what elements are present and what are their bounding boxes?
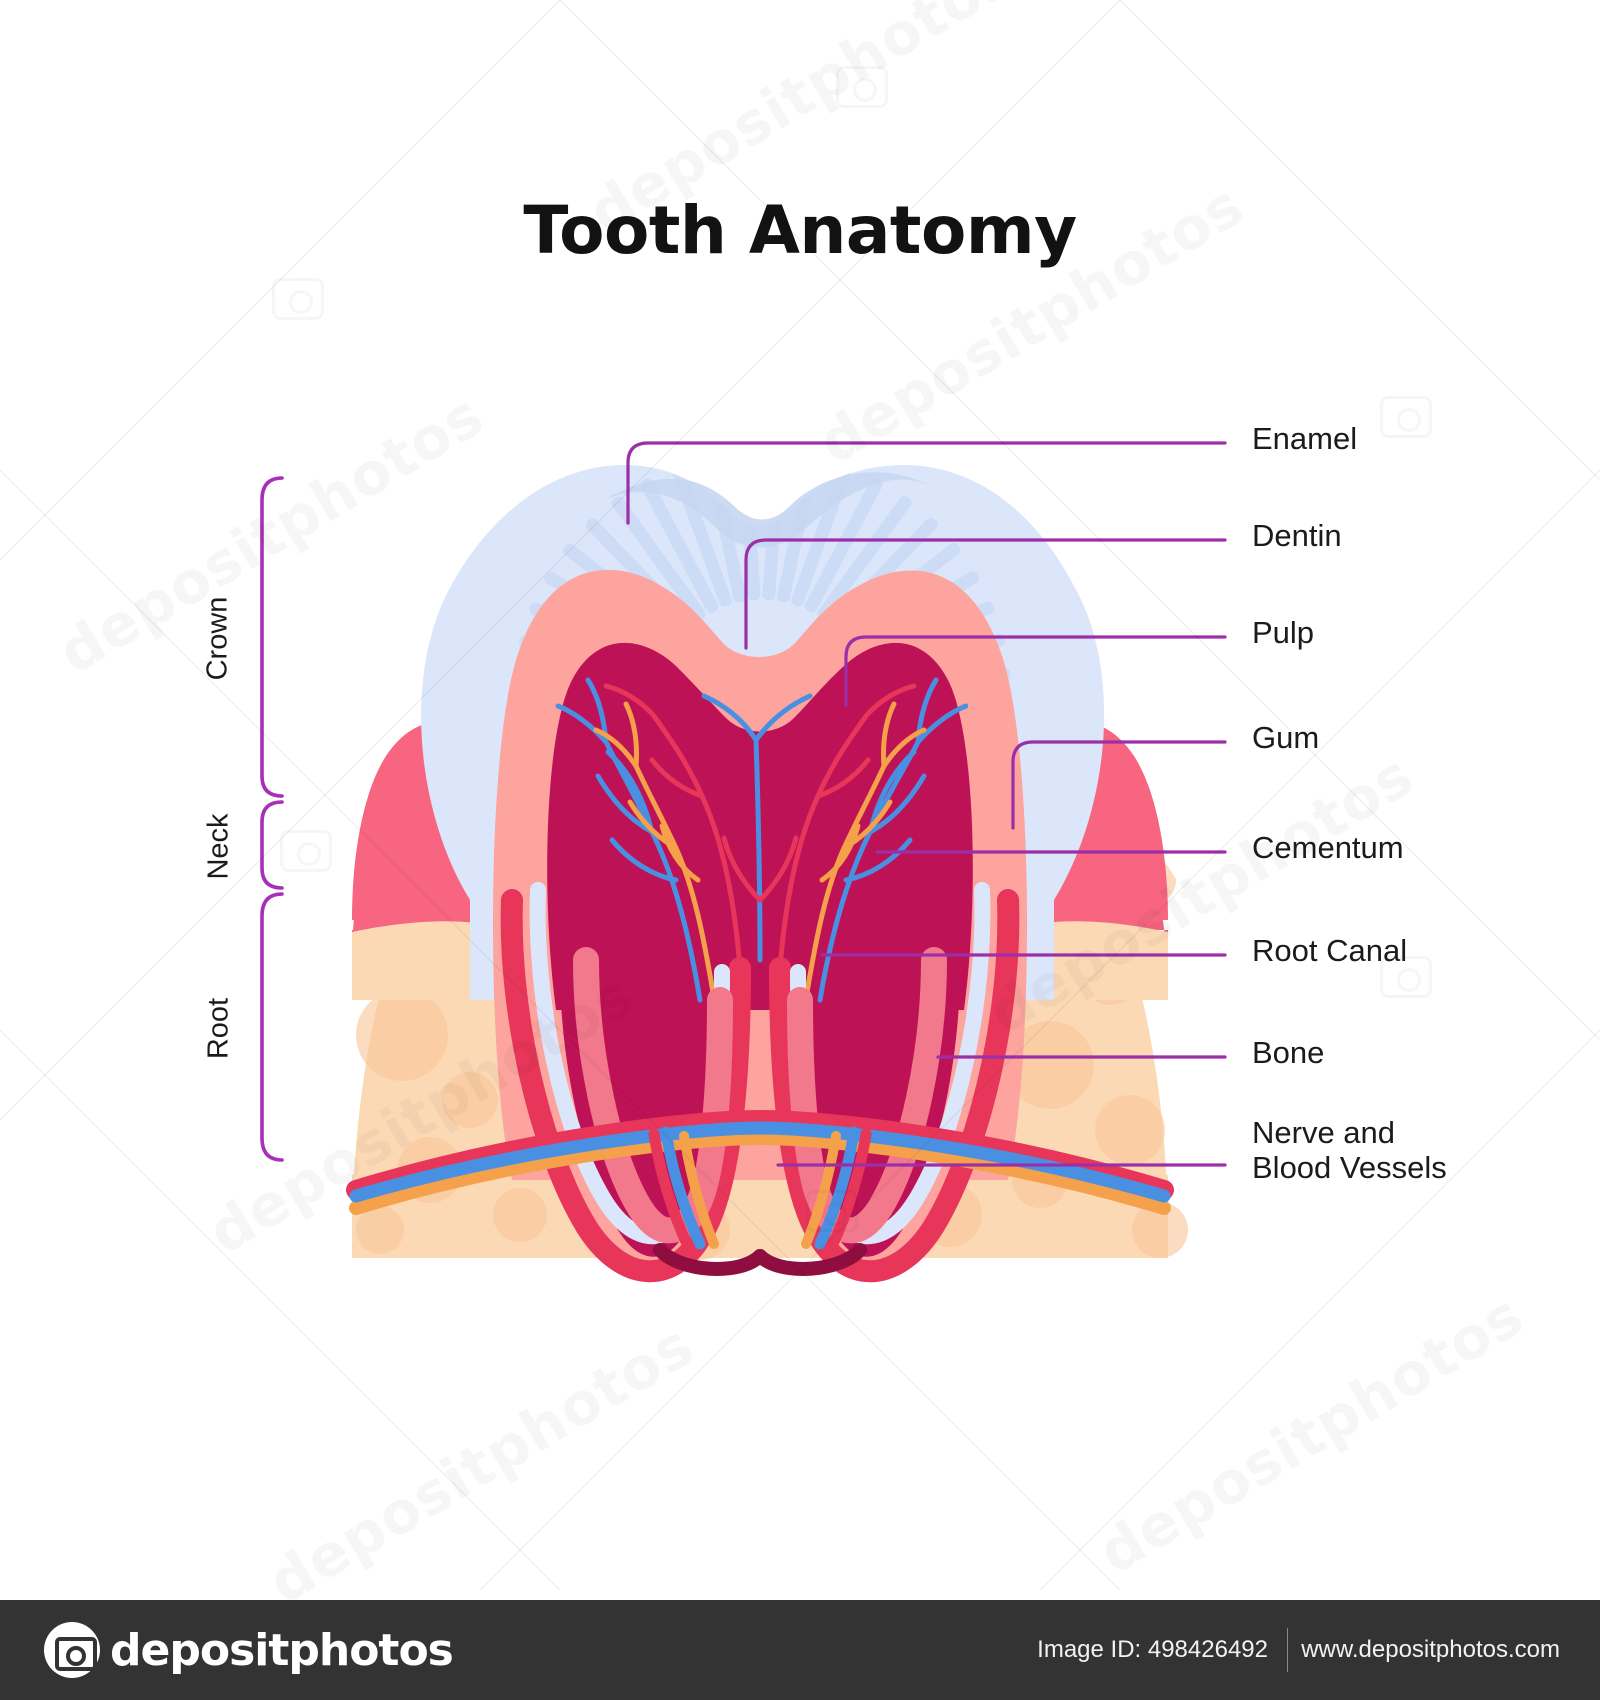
footer-logo-text: depositphotos [110, 1625, 453, 1676]
footer-divider [1287, 1628, 1288, 1672]
callout-label-gum: Gum [1252, 721, 1319, 756]
bracket-root [262, 894, 282, 1160]
section-brackets [262, 478, 282, 1160]
bracket-caption-crown: Crown [202, 589, 235, 689]
callout-label-root-canal: Root Canal [1252, 934, 1407, 969]
callout-label-nerve: Nerve and Blood Vessels [1252, 1116, 1447, 1185]
depositphotos-logo: depositphotos [44, 1622, 453, 1678]
callout-label-enamel: Enamel [1252, 422, 1357, 457]
bracket-neck [262, 802, 282, 888]
callout-label-pulp: Pulp [1252, 616, 1314, 651]
footer-url[interactable]: www.depositphotos.com [1301, 1636, 1560, 1664]
footer-bar: depositphotos Image ID: 498426492 www.de… [0, 1600, 1600, 1700]
callout-label-bone: Bone [1252, 1036, 1324, 1071]
bracket-caption-neck: Neck [203, 804, 236, 890]
bracket-caption-root: Root [203, 986, 236, 1072]
camera-icon [44, 1622, 100, 1678]
footer-image-id: Image ID: 498426492 [1037, 1636, 1268, 1664]
image-canvas: Tooth Anatomy [0, 0, 1600, 1700]
tooth-anatomy-illustration [0, 0, 1600, 1590]
callout-label-dentin: Dentin [1252, 519, 1342, 554]
callout-label-cementum: Cementum [1252, 831, 1404, 866]
